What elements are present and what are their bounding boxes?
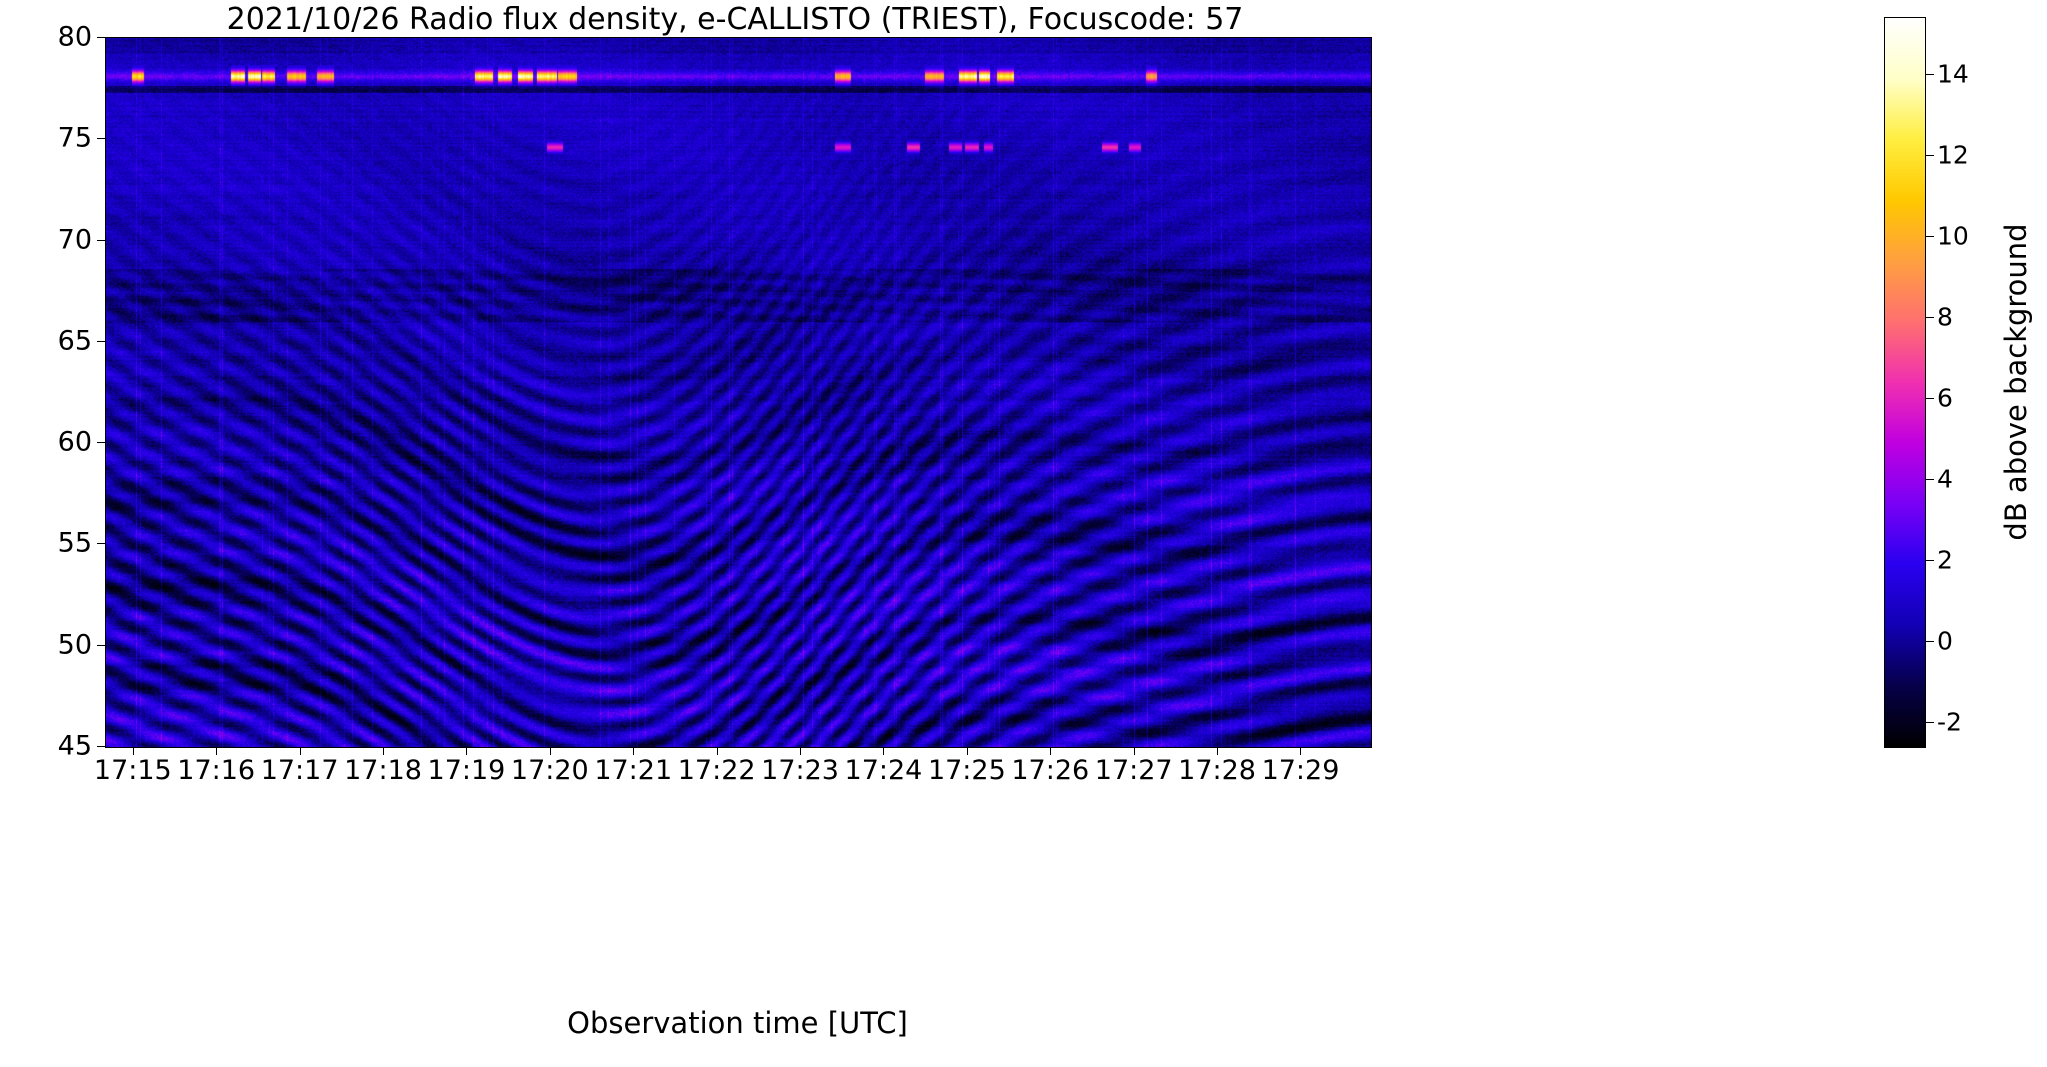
y-axis-tick-mark [97,442,105,443]
x-axis-tick-mark [717,747,718,755]
x-axis-tick-label: 17:29 [1262,755,1340,786]
x-axis-tick-mark [633,747,634,755]
x-axis-tick-label: 17:24 [845,755,923,786]
x-axis-tick-label: 17:20 [511,755,589,786]
x-axis-tick-label: 17:28 [1178,755,1256,786]
x-axis-tick-label: 17:22 [678,755,756,786]
y-axis-tick-label: 55 [58,528,92,559]
y-axis-tick-mark [97,37,105,38]
x-axis-tick-label: 17:15 [94,755,172,786]
x-axis-tick-mark [1300,747,1301,755]
x-axis-tick-mark [216,747,217,755]
x-axis-tick-label: 17:18 [344,755,422,786]
colorbar-tick-mark [1926,74,1934,75]
colorbar-tick-label: 4 [1937,464,1953,493]
spectrogram-canvas [106,38,1371,747]
y-axis-tick-label: 60 [58,427,92,458]
colorbar-tick-label: 2 [1937,545,1953,574]
x-axis-tick-mark [133,747,134,755]
colorbar-tick-label: 10 [1937,221,1969,250]
x-axis-tick-label: 17:23 [761,755,839,786]
colorbar-tick-mark [1926,479,1934,480]
y-axis-tick-label: 80 [58,22,92,53]
x-axis-tick-label: 17:25 [928,755,1006,786]
colorbar-tick-label: 14 [1937,59,1969,88]
colorbar-tick-mark [1926,641,1934,642]
colorbar-tick-mark [1926,560,1934,561]
x-axis-tick-mark [883,747,884,755]
x-axis-tick-mark [300,747,301,755]
colorbar-label: dB above background [1999,223,2033,540]
x-axis-tick-label: 17:17 [261,755,339,786]
x-axis-tick-mark [383,747,384,755]
y-axis-tick-label: 45 [58,731,92,762]
y-axis-tick-mark [97,138,105,139]
colorbar-tick-label: 6 [1937,383,1953,412]
x-axis-tick-mark [967,747,968,755]
y-axis-tick-label: 75 [58,123,92,154]
y-axis-tick-mark [97,240,105,241]
y-axis-tick-mark [97,341,105,342]
colorbar-tick-label: -2 [1937,707,1962,736]
page-title: 2021/10/26 Radio flux density, e-CALLIST… [0,2,1470,37]
y-axis-tick-label: 65 [58,325,92,356]
colorbar-tick-mark [1926,398,1934,399]
x-axis-tick-mark [1050,747,1051,755]
colorbar-tick-label: 12 [1937,140,1969,169]
x-axis-tick-label: 17:26 [1011,755,1089,786]
x-axis-label: Observation time [UTC] [105,1006,1370,1040]
x-axis-tick-mark [466,747,467,755]
colorbar-tick-label: 0 [1937,626,1953,655]
x-axis-tick-label: 17:16 [177,755,255,786]
colorbar [1884,17,1926,748]
y-axis-tick-mark [97,746,105,747]
x-axis-tick-label: 17:21 [594,755,672,786]
colorbar-tick-mark [1926,317,1934,318]
x-axis-tick-label: 17:27 [1095,755,1173,786]
y-axis-tick-label: 50 [58,629,92,660]
colorbar-tick-mark [1926,722,1934,723]
y-axis-tick-mark [97,543,105,544]
x-axis-tick-label: 17:19 [428,755,506,786]
x-axis-tick-mark [1134,747,1135,755]
x-axis-tick-mark [800,747,801,755]
colorbar-canvas [1885,18,1925,747]
colorbar-tick-mark [1926,236,1934,237]
colorbar-tick-label: 8 [1937,302,1953,331]
x-axis-tick-mark [550,747,551,755]
x-axis-tick-mark [1217,747,1218,755]
y-axis-tick-label: 70 [58,224,92,255]
y-axis-tick-mark [97,645,105,646]
spectrogram-plot [105,37,1372,748]
colorbar-tick-mark [1926,155,1934,156]
